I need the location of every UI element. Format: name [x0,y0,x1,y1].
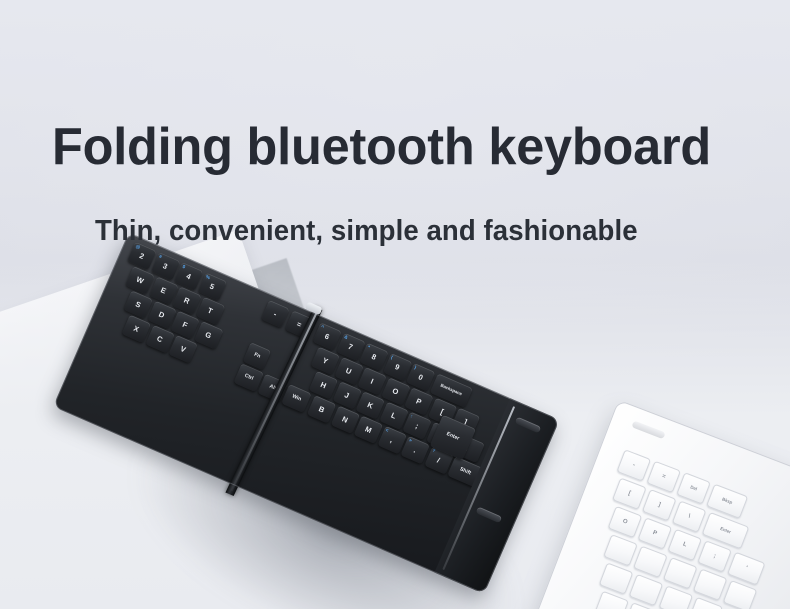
black-keyboard-rim [53,232,560,594]
page-title: Folding bluetooth keyboard [52,117,731,177]
page-subtitle: Thin, convenient, simple and fashionable [95,212,722,250]
product-banner: @2#3$4%5WERTSDFGXCV^6&7*8(9)0YUIOPHJKL:;… [0,0,790,609]
